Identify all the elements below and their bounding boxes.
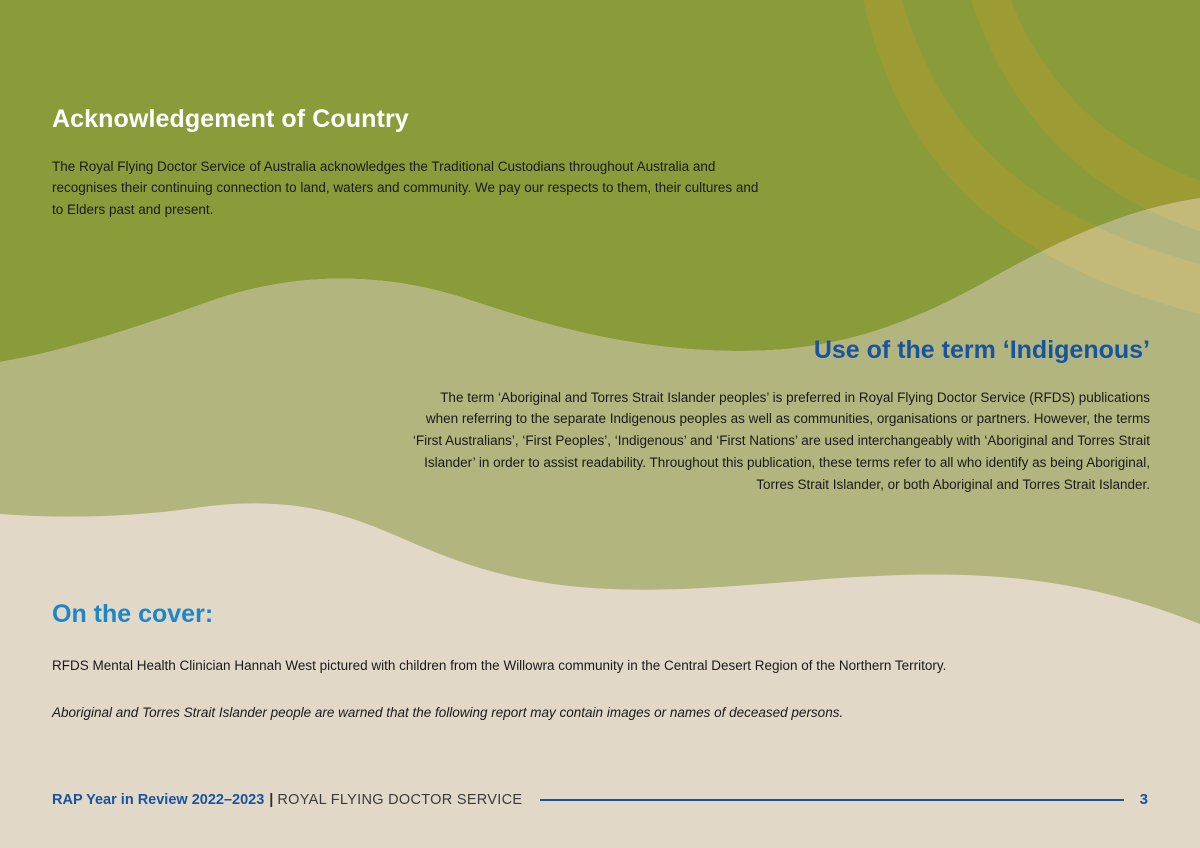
indigenous-term-section: Use of the term ‘Indigenous’ The term ‘A… <box>410 337 1150 496</box>
indigenous-term-body: The term ‘Aboriginal and Torres Strait I… <box>410 387 1150 496</box>
indigenous-term-title: Use of the term ‘Indigenous’ <box>410 337 1150 365</box>
deceased-persons-warning: Aboriginal and Torres Strait Islander pe… <box>52 702 1132 724</box>
on-the-cover-title: On the cover: <box>52 601 1132 629</box>
footer-report-title: RAP Year in Review 2022–2023 <box>52 792 264 808</box>
acknowledgement-body: The Royal Flying Doctor Service of Austr… <box>52 156 764 222</box>
on-the-cover-body: RFDS Mental Health Clinician Hannah West… <box>52 655 1132 677</box>
footer-organisation-name: ROYAL FLYING DOCTOR SERVICE <box>277 792 522 808</box>
on-the-cover-section: On the cover: RFDS Mental Health Clinici… <box>52 601 1132 724</box>
page-footer: RAP Year in Review 2022–2023 | ROYAL FLY… <box>52 791 1148 808</box>
footer-rule-line <box>540 799 1123 801</box>
acknowledgement-title: Acknowledgement of Country <box>52 106 812 134</box>
acknowledgement-section: Acknowledgement of Country The Royal Fly… <box>52 106 812 221</box>
footer-separator: | <box>264 792 277 808</box>
footer-page-number: 3 <box>1140 791 1148 808</box>
document-page: Acknowledgement of Country The Royal Fly… <box>0 0 1200 848</box>
